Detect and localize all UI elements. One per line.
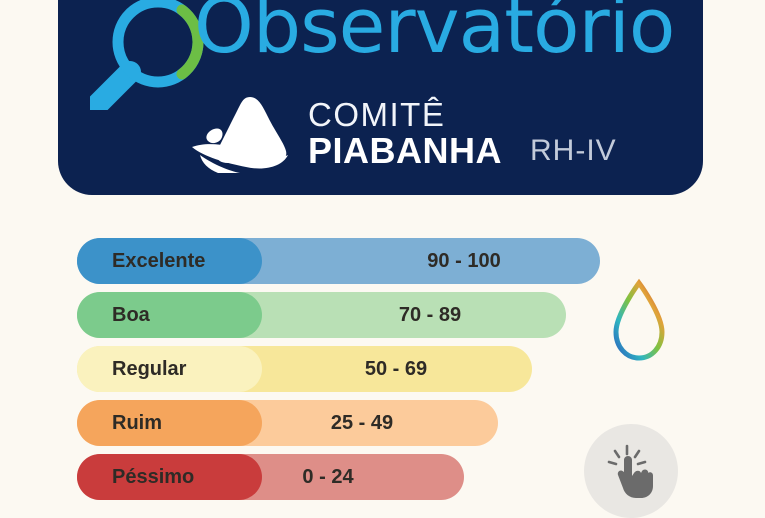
quality-label: Excelente xyxy=(112,238,205,284)
quality-label: Regular xyxy=(112,346,186,392)
tap-hand-icon xyxy=(605,444,657,498)
region-label: RH-IV xyxy=(530,134,617,168)
quality-label: Ruim xyxy=(112,400,162,446)
quality-label: Boa xyxy=(112,292,150,338)
quality-label: Péssimo xyxy=(112,454,194,500)
comite-piabanha-logo-icon xyxy=(188,95,304,173)
comite-wordmark: COMITÊ PIABANHA xyxy=(308,98,502,169)
quality-range-value: 25 - 49 xyxy=(331,400,393,446)
quality-range-value: 90 - 100 xyxy=(427,238,500,284)
quality-range-value: 50 - 69 xyxy=(365,346,427,392)
header-panel: Observatório COMITÊ PIABANHA RH-IV xyxy=(58,0,703,195)
piabanha-label: PIABANHA xyxy=(308,133,502,169)
quality-range-value: 70 - 89 xyxy=(399,292,461,338)
quality-label-pill xyxy=(77,292,262,338)
comite-label: COMITÊ xyxy=(308,98,502,131)
tap-button[interactable] xyxy=(584,424,678,518)
water-drop-icon xyxy=(608,278,670,364)
quality-range-value: 0 - 24 xyxy=(302,454,353,500)
page-title: Observatório xyxy=(194,0,674,64)
quality-label-pill xyxy=(77,400,262,446)
